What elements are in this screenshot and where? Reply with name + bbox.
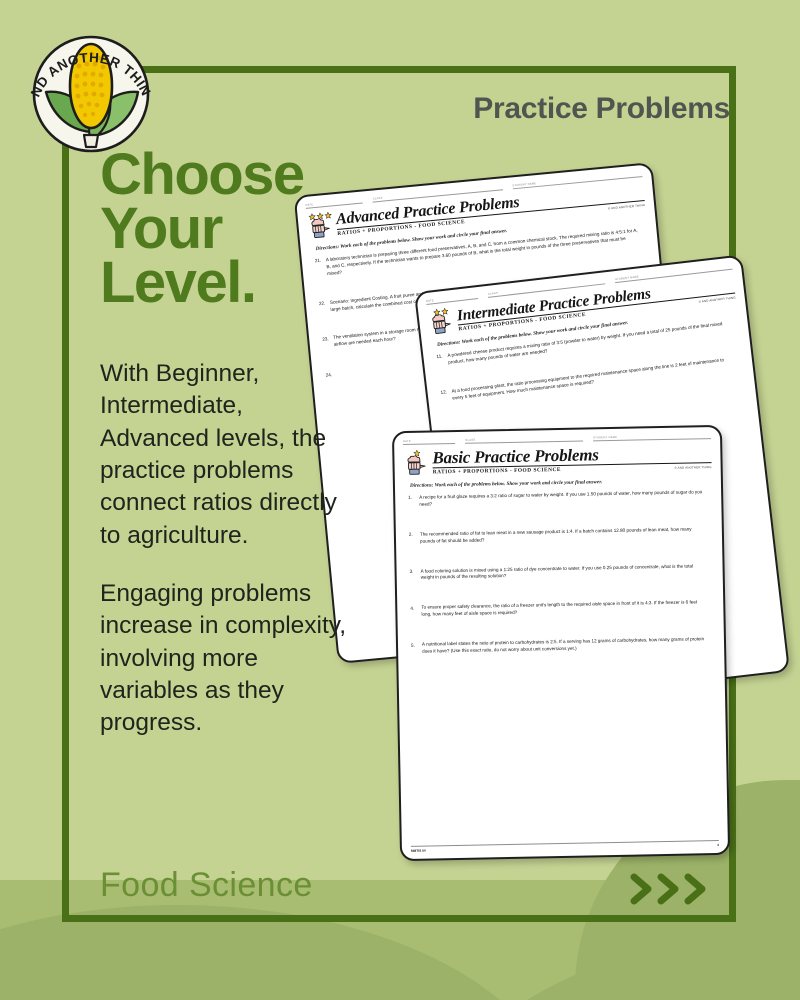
worksheet-directions: Directions: Work each of the problems be… [404,477,712,489]
worksheet-page-number: 4 [717,843,719,847]
chef-mascot-icon [427,307,456,336]
field-class[interactable]: CLASS [465,437,583,444]
worksheet-subtitle: RATIOS + PROPORTIONS - FOOD SCIENCE [433,467,561,475]
question-text: A recipe for a fruit glaze requires a 3:… [419,489,712,508]
question-item: 3. A food coloring solution is mixed usi… [410,563,714,583]
question-text: The recommended ratio of fat to lean mea… [420,526,713,545]
worksheet-form-fields: DATE CLASS STUDENT NAME [403,434,711,445]
worksheet-question-list: 1. A recipe for a fruit glaze requires a… [404,489,719,846]
worksheet-card-basic[interactable]: DATE CLASS STUDENT NAME [392,425,730,861]
page-kicker-title: Practice Problems [473,92,730,126]
worksheet-copyright: © AND ANOTHER THING [674,465,711,470]
field-date[interactable]: DATE [403,439,455,445]
question-number: 5. [411,642,422,656]
page-headline: Choose Your Level. [100,148,360,310]
question-text: A nutritional label states the ratio of … [422,636,715,655]
background-wave-bottom-right [430,920,800,1000]
body-copy-block: With Beginner, Intermediate, Advanced le… [100,358,350,740]
question-text: A food coloring solution is mixed using … [421,563,714,582]
worksheet-footer-code: MMTIS 04 [411,849,426,853]
worksheet-copyright: © AND ANOTHER THING [608,203,645,210]
question-number: 2. [409,531,420,545]
body-paragraph-1: With Beginner, Intermediate, Advanced le… [100,358,350,552]
question-number: 4. [410,605,421,619]
subject-label: Food Science [100,866,313,905]
question-item: 1. A recipe for a fruit glaze requires a… [408,489,712,509]
question-number: 3. [410,568,421,582]
question-text: At a food processing plant, the ratio pr… [451,355,744,402]
brand-logo: AND ANOTHER THING [22,14,160,159]
chef-mascot-icon [403,449,429,475]
body-paragraph-2: Engaging problems increase in complexity… [100,578,350,740]
question-item: 4. To ensure proper safety clearance, th… [410,599,714,619]
question-number: 1. [408,495,419,509]
question-text: To ensure proper safety clearance, the r… [421,599,714,618]
field-date[interactable]: DATE [426,294,479,305]
field-student-name[interactable]: STUDENT NAME [593,434,711,441]
triple-chevron-right-icon [630,873,710,905]
poster-canvas: AND ANOTHER THING Practice Problems Choo… [0,0,800,1000]
question-item: 5. A nutritional label states the ratio … [411,636,715,656]
question-item: 2. The recommended ratio of fat to lean … [409,526,713,546]
corn-cob-icon: AND ANOTHER THING [22,14,160,159]
